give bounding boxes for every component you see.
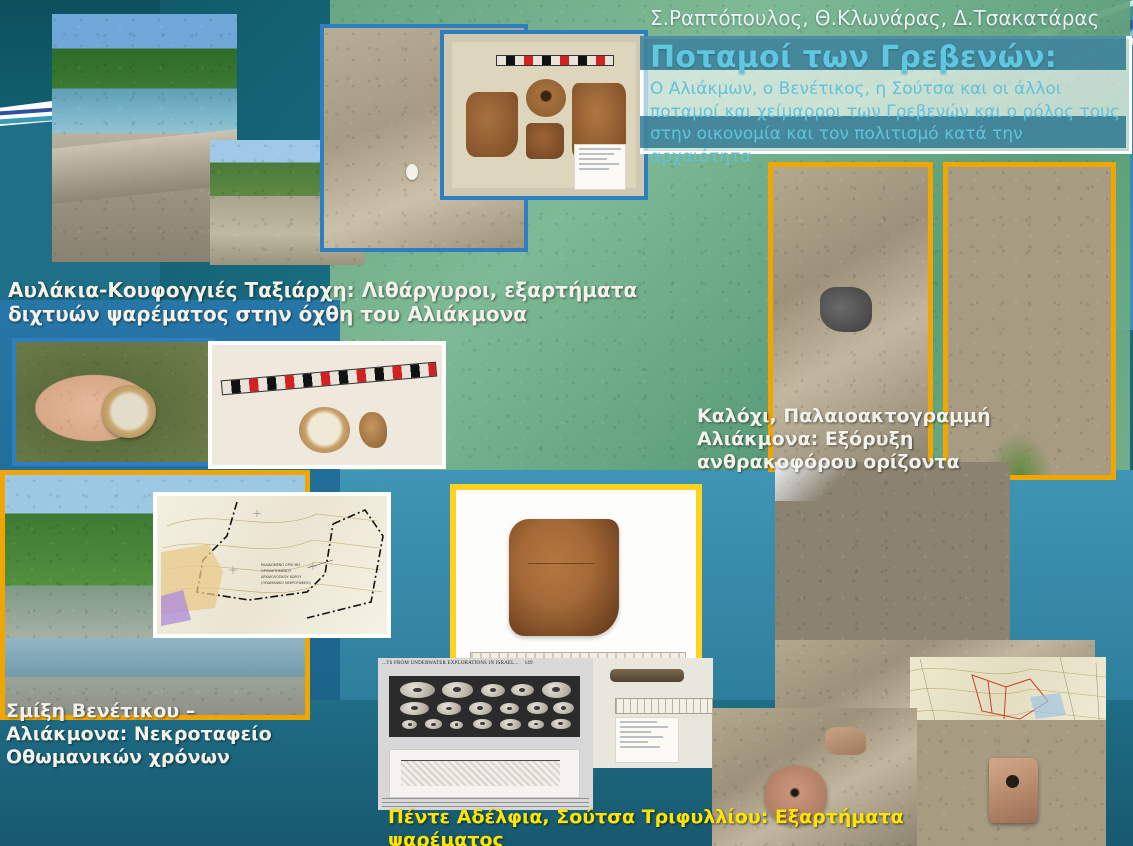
photo-paper-scan: ...TS FROM UNDERWATER EXPLORATIONS IN IS… [378,658,593,810]
photo-cadastral-map: ΕΚΔΙΔΟΜΕΝΟ ΟΡΙΟ ΜΗ ΟΡΙΟΘΕΤΗΜΕΝΟΥ ΑΡΧΑΙΟΛ… [153,492,391,638]
caption-aulakia-koufoggies: Αυλάκια-Κουφογγιές Ταξιάρχη: Λιθάργυροι,… [8,278,678,327]
find-label-card [615,717,679,763]
svg-text:ΑΡΧΑΙΟΛΟΓΙΚΟΥ ΧΩΡΟΥ: ΑΡΧΑΙΟΛΟΓΙΚΟΥ ΧΩΡΟΥ [261,575,302,579]
scan-header-text: ...TS FROM UNDERWATER EXPLORATIONS IN IS… [382,661,533,666]
caption-smixi-venetikou: Σμίξη Βενέτικου – Αλιάκμονα: Νεκροταφείο… [6,700,276,770]
sherd-c [526,123,564,159]
litharge-large [299,407,350,453]
find-label-card [574,144,626,190]
sherd-incision [528,563,595,564]
presentation-slide: ΕΚΔΙΔΟΜΕΝΟ ΟΡΙΟ ΜΗ ΟΡΙΟΘΕΤΗΜΕΝΟΥ ΑΡΧΑΙΟΛ… [0,0,1133,846]
net-weight-hole [1006,775,1019,788]
scale-bar [496,55,614,66]
scan-header-label: ...TS FROM UNDERWATER EXPLORATIONS IN IS… [382,661,519,666]
net-weight-block [989,758,1038,824]
caption-pente-adelfia: Πέντε Αδέλφια, Σούτσα Τριφυλλίου: Εξαρτή… [388,806,978,846]
photo-litharge-in-hand [12,338,215,466]
photo-litharge-scale [208,341,446,469]
scan-page-number: 149 [525,661,533,666]
photo-sherd-with-ruler [450,484,702,678]
page-subtitle: Ο Αλιάκμων, ο Βενέτικος, η Σούτσα και οι… [650,78,1120,168]
sherd-large [509,519,619,635]
scan-section-diagram [389,749,580,798]
photo-artifact-ruler [593,658,713,768]
litharge-cupel [102,385,157,438]
map-vector-layer: ΕΚΔΙΔΟΜΕΝΟ ΟΡΙΟ ΜΗ ΟΡΙΟΘΕΤΗΜΕΝΟΥ ΑΡΧΑΙΟΛ… [157,496,387,634]
sherd-b [526,79,566,116]
svg-text:ΕΚΔΙΔΟΜΕΝΟ ΟΡΙΟ ΜΗ: ΕΚΔΙΔΟΜΕΝΟ ΟΡΙΟ ΜΗ [261,563,300,567]
svg-text:(ΟΘΩΜΑΝΙΚΟ ΝΕΚΡΟΤΑΦΕΙΟ): (ΟΘΩΜΑΝΙΚΟ ΝΕΚΡΟΤΑΦΕΙΟ) [261,581,311,585]
scale-bar [221,362,437,396]
sherd-a [466,92,518,157]
litharge-small [359,412,387,448]
photo-pottery-sherds [440,30,648,200]
iron-object [610,669,684,682]
svg-text:ΟΡΙΟΘΕΤΗΜΕΝΟΥ: ΟΡΙΟΘΕΤΗΜΕΝΟΥ [261,569,292,573]
river-water [5,638,305,676]
caption-kalochi: Καλόχι, Παλαιοακτογραμμή Αλιάκμονα: Εξόρ… [697,405,997,475]
ruler [615,698,713,714]
scan-plate-figure [389,676,580,737]
coal-fragments [820,287,873,332]
authors-line: Σ.Ραπτόπουλος, Θ.Κλωνάρας, Δ.Τσακατάρας [650,5,1120,32]
page-title: Ποταμοί των Γρεβενών: [650,40,1120,75]
ceramic-fragment [825,727,866,755]
